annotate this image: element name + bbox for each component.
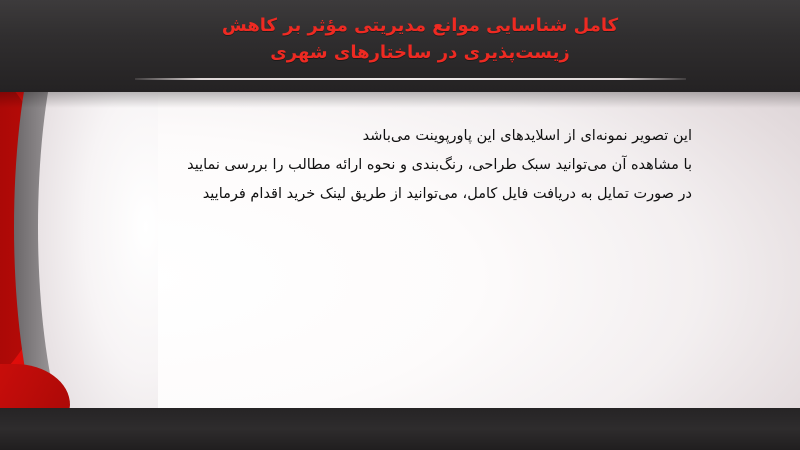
top-band-shadow bbox=[0, 92, 800, 108]
title-line-1: کامل شناسایی موانع مدیریتی مؤثر بر کاهش bbox=[120, 12, 720, 39]
slide-title: کامل شناسایی موانع مدیریتی مؤثر بر کاهش … bbox=[120, 12, 720, 66]
body-line-2: با مشاهده آن می‌توانید سبک طراحی، رنگ‌بن… bbox=[132, 151, 692, 180]
body-line-3: در صورت تمایل به دریافت فایل کامل، می‌تو… bbox=[132, 180, 692, 209]
body-line-1: این تصویر نمونه‌ای از اسلایدهای این پاور… bbox=[132, 122, 692, 151]
bottom-dark-band bbox=[0, 408, 800, 450]
title-underline bbox=[135, 78, 686, 80]
title-line-2: زیست‌پذیری در ساختارهای شهری bbox=[120, 39, 720, 66]
slide-canvas: کامل شناسایی موانع مدیریتی مؤثر بر کاهش … bbox=[0, 0, 800, 450]
slide-body: این تصویر نمونه‌ای از اسلایدهای این پاور… bbox=[132, 122, 692, 209]
